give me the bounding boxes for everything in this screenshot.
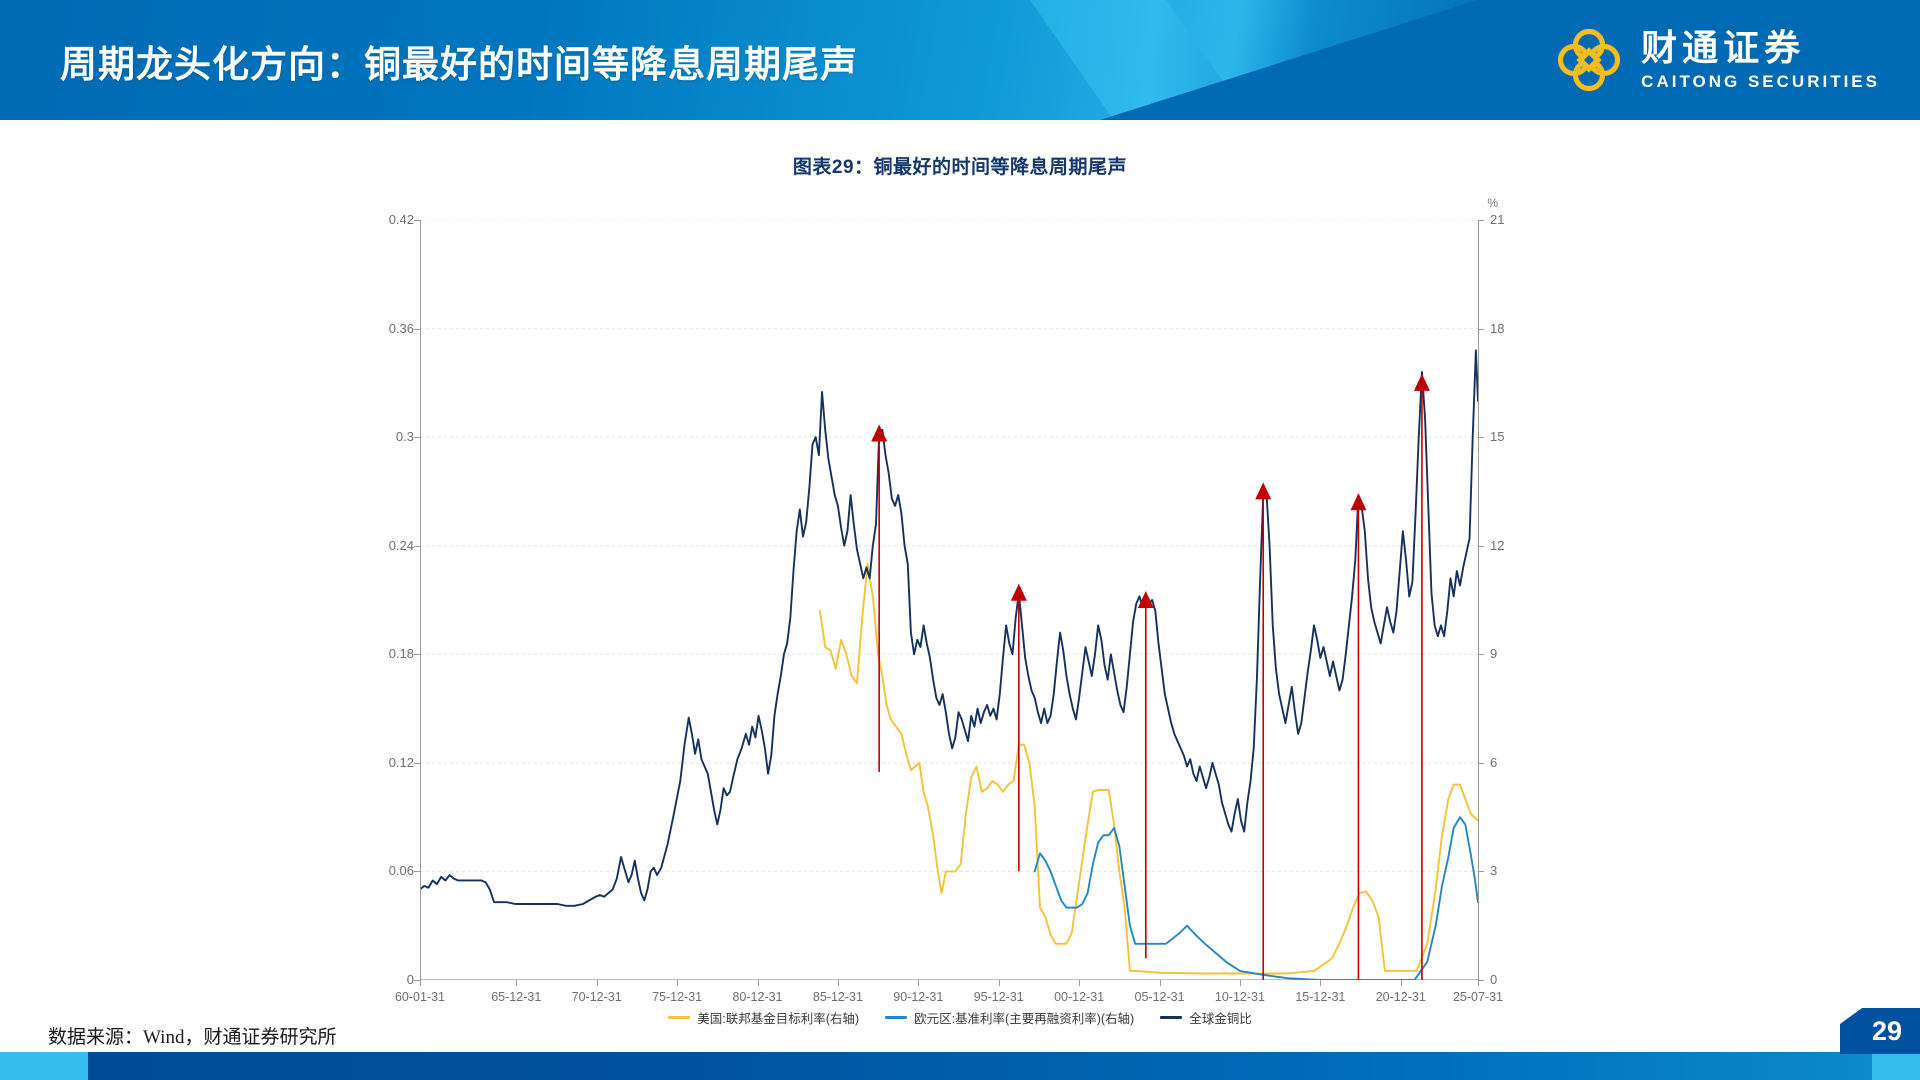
y-axis-left-tick-label: 0.36 [368, 321, 414, 336]
y-axis-right-tick-label: 6 [1490, 755, 1530, 770]
annotation-arrow-head-icon [871, 425, 887, 442]
x-axis-tick-mark [516, 980, 517, 986]
x-axis-tick-mark [1160, 980, 1161, 986]
y-axis-right-tick-label: 12 [1490, 538, 1530, 553]
chart-title: 图表29：铜最好的时间等降息周期尾声 [0, 152, 1920, 179]
chart-svg [420, 220, 1478, 980]
y-axis-left-tick-label: 0.06 [368, 863, 414, 878]
x-axis-tick-label: 60-01-31 [375, 990, 465, 1004]
y-axis-left-tick-label: 0.18 [368, 646, 414, 661]
logo-text: 财通证券 CAITONG SECURITIES [1641, 30, 1880, 90]
x-axis-tick-mark [1240, 980, 1241, 986]
annotation-arrow-head-icon [1414, 374, 1430, 391]
annotation-arrow-head-icon [1255, 482, 1271, 499]
y-axis-left-tick-label: 0.3 [368, 429, 414, 444]
x-axis-tick-label: 25-07-31 [1433, 990, 1523, 1004]
x-axis-tick-mark [420, 980, 421, 986]
y-axis-right-tick-label: 15 [1490, 429, 1530, 444]
caitong-emblem-icon [1553, 24, 1625, 96]
y-axis-left-spine [420, 220, 421, 980]
x-axis-tick-label: 05-12-31 [1115, 990, 1205, 1004]
y-axis-right-tick-label: 0 [1490, 972, 1530, 987]
legend-label: 欧元区:基准利率(主要再融资利率)(右轴) [914, 1008, 1134, 1027]
x-axis-tick-label: 95-12-31 [954, 990, 1044, 1004]
slide-header: 周期龙头化方向：铜最好的时间等降息周期尾声 财通证券 CAI [0, 0, 1920, 120]
x-axis-tick-mark [597, 980, 598, 986]
x-axis-tick-mark [999, 980, 1000, 986]
x-axis-tick-label: 75-12-31 [632, 990, 722, 1004]
x-axis-tick-label: 85-12-31 [793, 990, 883, 1004]
x-axis-tick-label: 90-12-31 [873, 990, 963, 1004]
logo-name-en: CAITONG SECURITIES [1641, 73, 1880, 90]
y-axis-right-tick-label: 21 [1490, 212, 1530, 227]
legend-label: 全球金铜比 [1189, 1008, 1252, 1027]
legend-color-swatch [885, 1016, 907, 1019]
y-axis-right-tick-label: 9 [1490, 646, 1530, 661]
footer-bar [0, 1052, 1920, 1080]
footer-right-square [1872, 1052, 1920, 1080]
y-axis-left-tick-label: 0.24 [368, 538, 414, 553]
company-logo: 财通证券 CAITONG SECURITIES [1553, 24, 1880, 96]
x-axis-tick-label: 15-12-31 [1275, 990, 1365, 1004]
x-axis-tick-label: 70-12-31 [552, 990, 642, 1004]
legend-color-swatch [1160, 1016, 1182, 1019]
right-axis-unit-label: % [1487, 196, 1498, 210]
y-axis-right-spine [1478, 220, 1479, 980]
x-axis-tick-mark [1079, 980, 1080, 986]
slide-root: 周期龙头化方向：铜最好的时间等降息周期尾声 财通证券 CAI [0, 0, 1920, 1080]
logo-name-cn: 财通证券 [1641, 30, 1880, 66]
footer-left-square [0, 1052, 88, 1080]
series-line [820, 564, 1478, 974]
y-axis-left-tick-label: 0.12 [368, 755, 414, 770]
y-axis-right-tick-label: 3 [1490, 863, 1530, 878]
series-line [420, 350, 1478, 906]
annotation-arrow-head-icon [1350, 493, 1366, 510]
y-axis-left-tick-label: 0 [368, 972, 414, 987]
legend-item[interactable]: 美国:联邦基金目标利率(右轴) [668, 1008, 859, 1027]
x-axis-tick-label: 10-12-31 [1195, 990, 1285, 1004]
x-axis-tick-mark [677, 980, 678, 986]
x-axis-tick-mark [758, 980, 759, 986]
chart-container: % 00.060.120.180.240.30.360.42 036912151… [380, 190, 1540, 1020]
x-axis-tick-label: 65-12-31 [471, 990, 561, 1004]
chart-plot-area [420, 220, 1478, 980]
x-axis-tick-mark [838, 980, 839, 986]
x-axis-tick-mark [1478, 980, 1479, 986]
series-line [1035, 817, 1478, 980]
legend-color-swatch [668, 1016, 690, 1019]
y-axis-left-tick-label: 0.42 [368, 212, 414, 227]
page-title: 周期龙头化方向：铜最好的时间等降息周期尾声 [60, 34, 858, 88]
annotation-arrow-head-icon [1011, 584, 1027, 601]
x-axis-tick-mark [1320, 980, 1321, 986]
x-axis-tick-label: 00-12-31 [1034, 990, 1124, 1004]
x-axis-tick-mark [918, 980, 919, 986]
legend-label: 美国:联邦基金目标利率(右轴) [697, 1008, 859, 1027]
x-axis-tick-label: 80-12-31 [713, 990, 803, 1004]
y-axis-right-tick-label: 18 [1490, 321, 1530, 336]
legend-item[interactable]: 欧元区:基准利率(主要再融资利率)(右轴) [885, 1008, 1134, 1027]
legend-item[interactable]: 全球金铜比 [1160, 1008, 1252, 1027]
x-axis-tick-mark [1401, 980, 1402, 986]
source-note: 数据来源：Wind，财通证券研究所 [48, 1022, 336, 1049]
